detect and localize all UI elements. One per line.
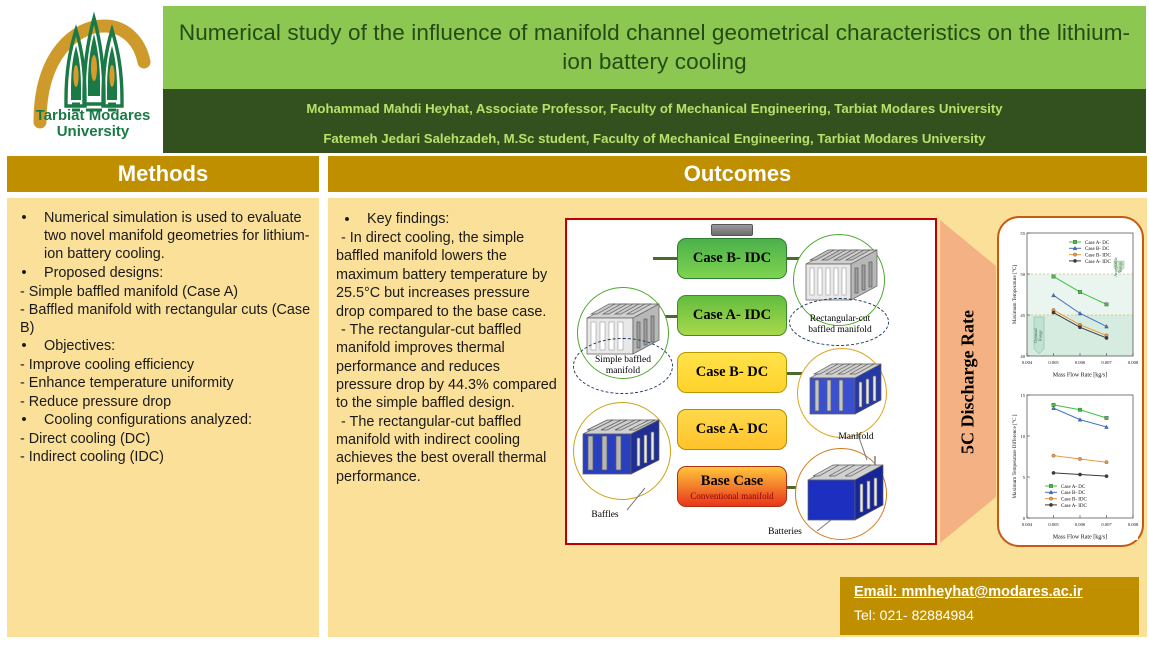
methods-sub-item: - Enhance temperature uniformity: [13, 374, 311, 392]
svg-text:10: 10: [1020, 434, 1025, 439]
svg-text:Mass Flow Rate [kg/s]: Mass Flow Rate [kg/s]: [1053, 373, 1108, 379]
poster-title: Numerical study of the influence of mani…: [177, 19, 1132, 77]
outcome-paragraph-3: - The rectangular-cut baffled manifold w…: [336, 413, 558, 486]
svg-text:0.006: 0.006: [1075, 522, 1086, 527]
svg-text:Range: Range: [1037, 330, 1042, 341]
svg-text:Case A- IDC: Case A- IDC: [1061, 504, 1087, 509]
contact-email[interactable]: Email: mmheyhat@modares.ac.ir: [854, 584, 1127, 600]
contact-box: Email: mmheyhat@modares.ac.ir Tel: 021- …: [840, 577, 1139, 635]
svg-text:Range: Range: [1117, 261, 1122, 272]
methods-sub-item: - Indirect cooling (IDC): [13, 448, 311, 466]
methods-sub-item: - Simple baffled manifold (Case A): [13, 283, 311, 301]
svg-text:15: 15: [1020, 393, 1025, 398]
svg-text:Maximum Temperature Difference: Maximum Temperature Difference [°C ]: [1011, 414, 1018, 498]
maximum-temperature-chart: 0.0040.0050.0060.0070.00840455055Mass Fl…: [1007, 226, 1138, 378]
svg-text:Case A- DC: Case A- DC: [1085, 241, 1110, 246]
svg-text:Case A- IDC: Case A- IDC: [1085, 260, 1111, 265]
bullet-glyph-icon: •: [13, 337, 35, 356]
svg-text:50: 50: [1020, 272, 1025, 277]
outcomes-section-header: Outcomes: [328, 156, 1147, 192]
svg-text:Maximum Temperature [°C]: Maximum Temperature [°C]: [1011, 265, 1018, 325]
outcome-paragraph-1: - In direct cooling, the simple baffled …: [336, 229, 558, 321]
methods-section-header: Methods: [7, 156, 319, 192]
methods-sub-item: - Improve cooling efficiency: [13, 356, 311, 374]
bullet-glyph-icon: •: [13, 411, 35, 430]
svg-text:0.006: 0.006: [1075, 360, 1086, 365]
svg-text:0.004: 0.004: [1022, 522, 1033, 527]
methods-bullet-item: •Cooling configurations analyzed:: [13, 411, 311, 430]
methods-body: •Numerical simulation is used to evaluat…: [7, 198, 319, 466]
svg-text:0.005: 0.005: [1048, 522, 1059, 527]
university-logo: Tarbiat Modares University: [22, 4, 164, 156]
svg-text:Mass Flow Rate [kg/s]: Mass Flow Rate [kg/s]: [1053, 535, 1108, 541]
svg-text:0.007: 0.007: [1101, 522, 1112, 527]
methods-panel: •Numerical simulation is used to evaluat…: [7, 198, 319, 637]
cooling-configurations-figure: Case B- IDC Case A- IDC Case B- DC Case …: [565, 218, 937, 545]
authors-bar: Mohammad Mahdi Heyhat, Associate Profess…: [163, 89, 1146, 153]
poster-title-bar: Numerical study of the influence of mani…: [163, 6, 1146, 89]
svg-text:Case A- DC: Case A- DC: [1061, 485, 1086, 490]
logo-text-line1: Tarbiat Modares: [22, 108, 164, 124]
svg-text:Case B- IDC: Case B- IDC: [1061, 498, 1087, 503]
methods-section-title: Methods: [118, 161, 208, 187]
svg-text:0.005: 0.005: [1048, 360, 1059, 365]
methods-item-label: Cooling configurations analyzed:: [35, 411, 311, 430]
methods-sub-item: - Baffled manifold with rectangular cuts…: [13, 301, 311, 337]
methods-item-label: Numerical simulation is used to evaluate…: [35, 209, 311, 264]
svg-text:0.008: 0.008: [1128, 360, 1138, 365]
discharge-rate-label: 5C Discharge Rate: [958, 310, 979, 454]
key-findings-bullet: • Key findings:: [336, 210, 558, 229]
svg-text:0.008: 0.008: [1128, 522, 1138, 527]
methods-bullet-item: •Objectives:: [13, 337, 311, 356]
svg-text:Case B- IDC: Case B- IDC: [1085, 254, 1111, 259]
svg-text:45: 45: [1020, 313, 1025, 318]
maximum-temperature-difference-chart: 0.0040.0050.0060.0070.008051015Mass Flow…: [1007, 388, 1138, 540]
bullet-glyph-icon: •: [13, 209, 35, 264]
results-charts-container: 0.0040.0050.0060.0070.00840455055Mass Fl…: [997, 216, 1144, 547]
methods-item-label: Objectives:: [35, 337, 311, 356]
leader-lines: [567, 220, 939, 547]
outcomes-section-title: Outcomes: [684, 161, 792, 187]
outcomes-text-column: • Key findings: - In direct cooling, the…: [336, 210, 558, 486]
author-line-1: Mohammad Mahdi Heyhat, Associate Profess…: [306, 101, 1002, 117]
svg-text:0.004: 0.004: [1022, 360, 1033, 365]
methods-bullet-item: •Numerical simulation is used to evaluat…: [13, 209, 311, 264]
svg-text:Case B- DC: Case B- DC: [1061, 491, 1086, 496]
logo-text-line2: University: [22, 124, 164, 140]
methods-bullet-item: •Proposed designs:: [13, 264, 311, 283]
key-findings-label: Key findings:: [358, 210, 558, 229]
poster-root: Tarbiat Modares University Numerical stu…: [0, 0, 1149, 647]
author-line-2: Fatemeh Jedari Salehzadeh, M.Sc student,…: [323, 131, 985, 147]
svg-text:Case B- DC: Case B- DC: [1085, 247, 1110, 252]
svg-text:55: 55: [1020, 231, 1025, 236]
methods-item-label: Proposed designs:: [35, 264, 311, 283]
svg-text:40: 40: [1020, 354, 1025, 359]
bullet-glyph-icon: •: [336, 210, 358, 229]
svg-text:0.007: 0.007: [1101, 360, 1112, 365]
methods-sub-item: - Reduce pressure drop: [13, 393, 311, 411]
bullet-glyph-icon: •: [13, 264, 35, 283]
discharge-rate-band: 5C Discharge Rate: [940, 220, 996, 543]
outcome-paragraph-2: - The rectangular-cut baffled manifold i…: [336, 321, 558, 413]
svg-text:0: 0: [1023, 516, 1026, 521]
contact-telephone: Tel: 021- 82884984: [854, 607, 1127, 623]
svg-text:5: 5: [1023, 475, 1026, 480]
methods-sub-item: - Direct cooling (DC): [13, 430, 311, 448]
